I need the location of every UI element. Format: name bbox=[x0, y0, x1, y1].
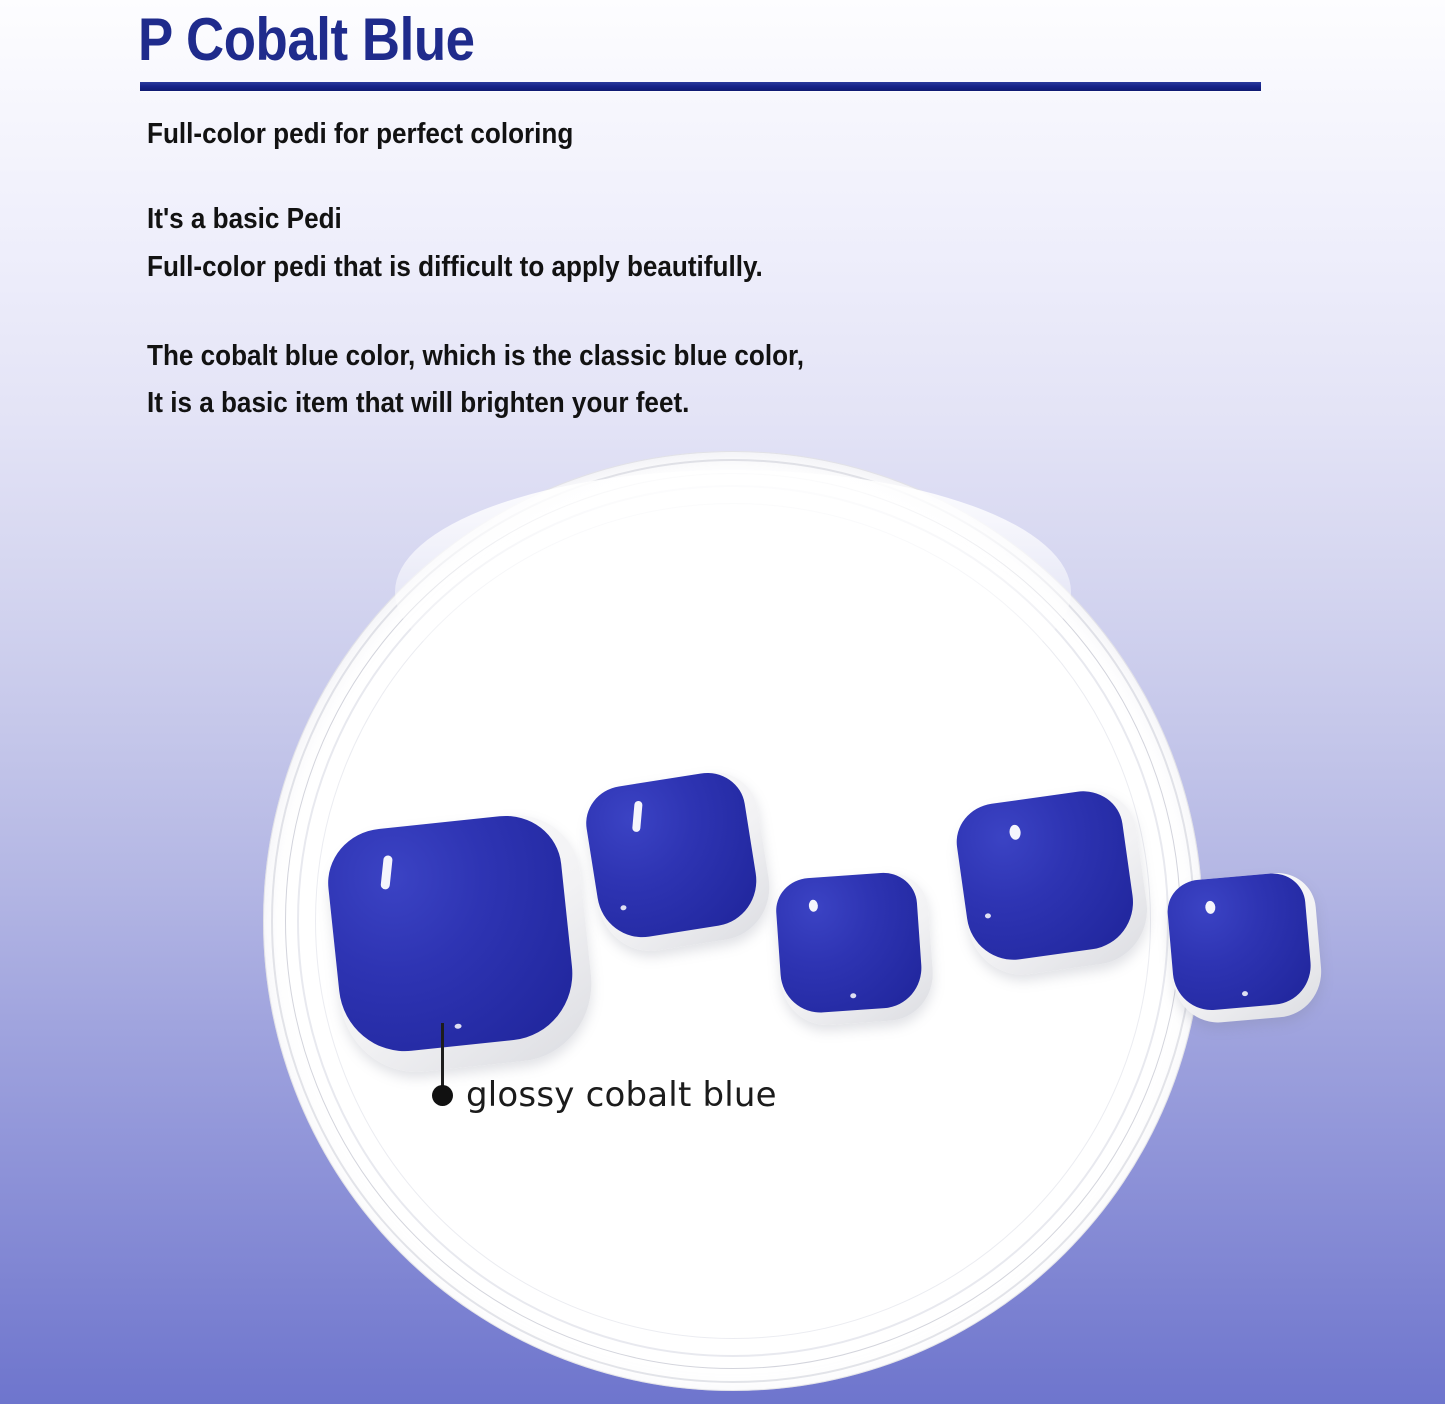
product-photo bbox=[263, 451, 1203, 1391]
subtitle: Full-color pedi for perfect coloring bbox=[147, 118, 573, 151]
nail-polish-surface bbox=[1165, 871, 1314, 1014]
description-line-2: Full-color pedi that is difficult to app… bbox=[147, 251, 763, 284]
callout-label: glossy cobalt blue bbox=[466, 1075, 777, 1115]
page-title: P Cobalt Blue bbox=[138, 8, 475, 71]
nail-micro-highlight bbox=[620, 904, 627, 910]
title-divider bbox=[140, 82, 1261, 91]
nail-polish-surface bbox=[774, 871, 924, 1015]
nail-polish-surface bbox=[581, 767, 763, 943]
nail-tip-5 bbox=[1165, 870, 1325, 1026]
nail-tip-1 bbox=[323, 809, 599, 1080]
nail-micro-highlight bbox=[454, 1023, 461, 1029]
description-line-1: It's a basic Pedi bbox=[147, 203, 342, 236]
nail-tip-3 bbox=[774, 870, 936, 1028]
description-line-4: It is a basic item that will brighten yo… bbox=[147, 387, 689, 420]
product-image-page: P Cobalt Blue Full-color pedi for perfec… bbox=[0, 0, 1445, 1404]
callout-dot-icon bbox=[432, 1085, 453, 1106]
callout-leader-line bbox=[441, 1023, 444, 1093]
description-line-3: The cobalt blue color, which is the clas… bbox=[147, 340, 804, 373]
nail-polish-surface bbox=[323, 810, 579, 1057]
nail-tip-4 bbox=[952, 784, 1154, 981]
nail-polish-surface bbox=[952, 786, 1140, 966]
nail-tip-2 bbox=[581, 766, 777, 959]
